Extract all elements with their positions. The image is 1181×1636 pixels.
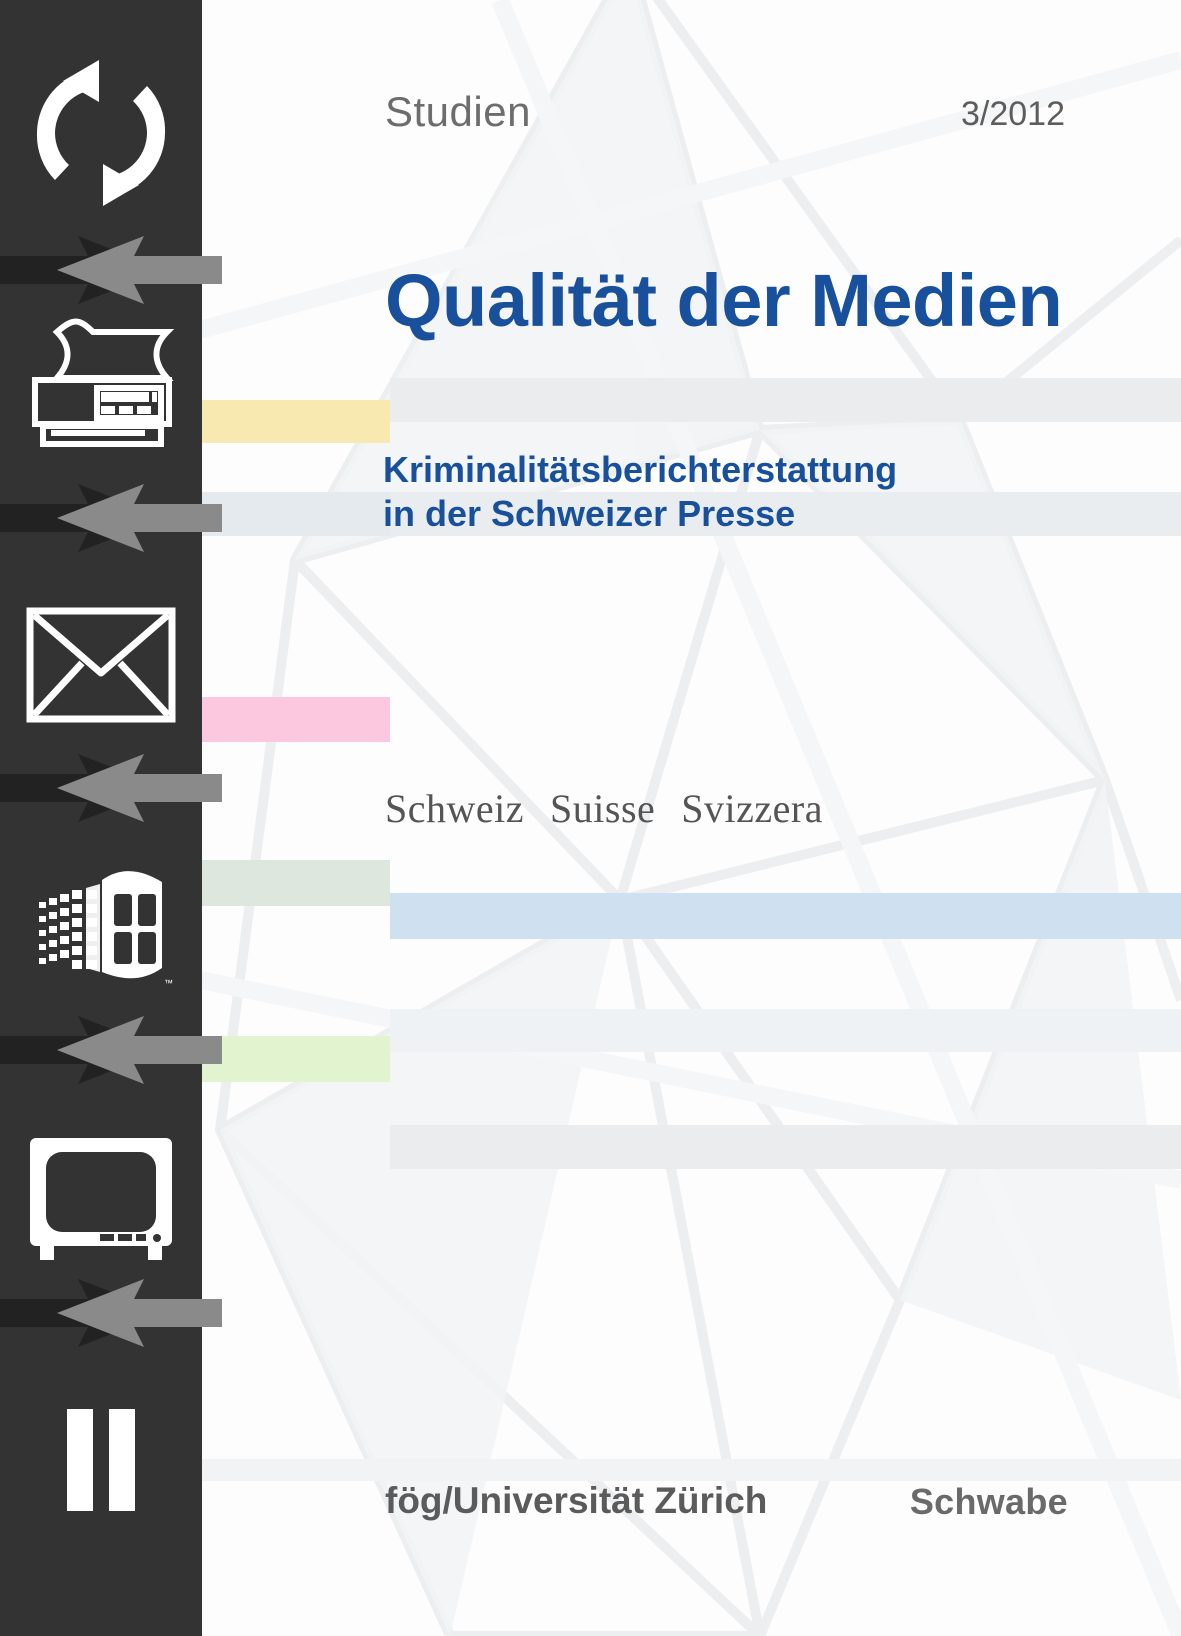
windows-flag-icon: ™ xyxy=(26,868,176,993)
crossing-arrows-1 xyxy=(0,222,222,318)
stripe-greengray xyxy=(202,860,390,906)
crossing-arrows-3 xyxy=(0,740,222,836)
issue-number: 3/2012 xyxy=(961,95,1065,134)
windows-flag-icon-slot: ™ xyxy=(0,855,202,1005)
language-it: Svizzera xyxy=(681,786,823,831)
language-line: SchweizSuisseSvizzera xyxy=(385,785,823,832)
svg-text:™: ™ xyxy=(164,978,173,988)
printing-press-icon-slot xyxy=(0,305,202,455)
stripe-gray-low xyxy=(390,1125,1181,1169)
refresh-cycle-icon-slot xyxy=(0,48,202,218)
publisher-logo: Schwabe xyxy=(910,1481,1068,1523)
envelope-icon-slot xyxy=(0,585,202,745)
crt-television-icon xyxy=(26,1134,176,1266)
crt-television-icon-slot xyxy=(0,1120,202,1280)
stripe-blue xyxy=(390,893,1181,939)
subtitle-line-2: in der Schweizer Presse xyxy=(383,492,897,536)
stripe-yellow xyxy=(202,400,390,443)
pause-bars-icon-slot xyxy=(0,1390,202,1530)
stripe-lightgreen xyxy=(202,1036,390,1082)
subtitle-line-1: Kriminalitätsberichterstattung xyxy=(383,448,897,492)
printing-press-icon xyxy=(21,310,181,450)
crossing-arrows-2 xyxy=(0,470,222,566)
language-de: Schweiz xyxy=(385,786,524,831)
subtitle: Kriminalitätsberichterstattung in der Sc… xyxy=(383,448,897,536)
crossing-arrows-4 xyxy=(0,1002,222,1098)
stripe-pink xyxy=(202,697,390,742)
envelope-icon xyxy=(26,607,176,723)
series-label: Studien xyxy=(385,88,531,136)
stripe-gray-footer xyxy=(202,1459,1181,1481)
stripe-palegray xyxy=(390,1009,1181,1052)
stripe-gray-top xyxy=(390,378,1181,422)
institution-label: fög/Universität Zürich xyxy=(385,1480,767,1522)
refresh-cycle-icon xyxy=(29,58,173,208)
stripe-bluegray xyxy=(202,492,390,536)
pause-bars-icon xyxy=(51,1405,151,1515)
page-title: Qualität der Medien xyxy=(385,258,1062,343)
crossing-arrows-5 xyxy=(0,1265,222,1361)
book-cover: ™ xyxy=(0,0,1181,1636)
language-fr: Suisse xyxy=(550,786,655,831)
